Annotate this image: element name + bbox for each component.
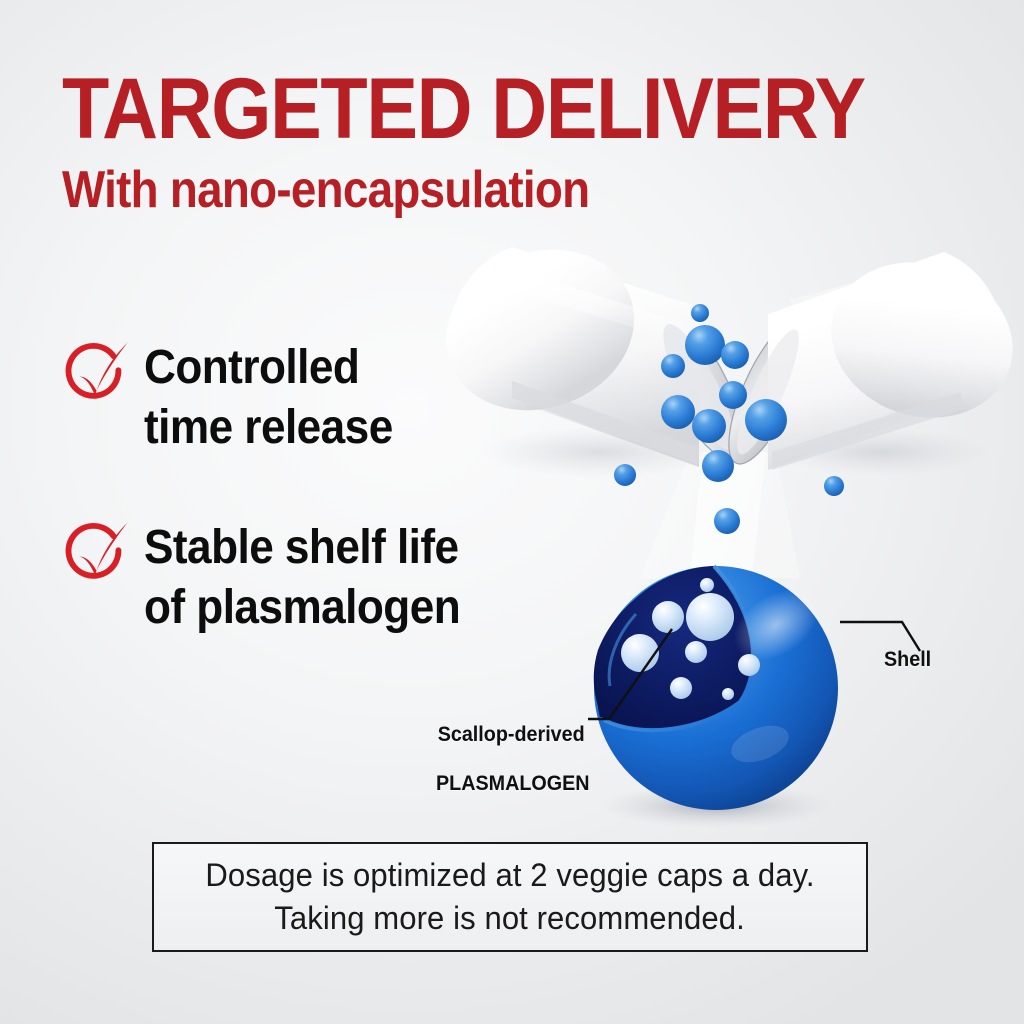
- leader-line-plasmalogen: [588, 629, 672, 719]
- capsule-right-shadow: [770, 428, 990, 476]
- callout-plasmalogen-line2: PLASMALOGEN: [436, 772, 586, 797]
- page-subtitle: With nano-encapsulation: [62, 164, 836, 216]
- sphere-core-cutaway: [596, 566, 721, 717]
- capsule-left-half: [423, 224, 760, 471]
- nano-particle: [614, 464, 636, 486]
- page-title: TARGETED DELIVERY: [62, 72, 854, 148]
- plasmalogen-bubble: [686, 593, 734, 641]
- nano-particle: [685, 325, 725, 365]
- plasmalogen-bubble: [738, 654, 760, 676]
- nano-particle: [702, 450, 734, 482]
- nano-particle: [692, 409, 726, 443]
- nano-particle: [661, 354, 685, 378]
- benefit-item-stable-shelf-life: Stable shelf life of plasmalogen: [56, 512, 488, 639]
- benefit-label: Controlled time release: [144, 332, 393, 459]
- benefit-label: Stable shelf life of plasmalogen: [144, 512, 460, 639]
- dosage-note-line1: Dosage is optimized at 2 veggie caps a d…: [205, 854, 814, 897]
- release-funnel-wide: [640, 452, 800, 578]
- plasmalogen-bubbles: [621, 578, 760, 700]
- plasmalogen-bubble: [652, 601, 684, 633]
- callout-plasmalogen-line1: Scallop-derived: [436, 723, 586, 748]
- sphere-cut-edge-inner: [609, 614, 636, 686]
- plasmalogen-bubble: [700, 578, 714, 592]
- sphere-shadow: [598, 784, 834, 828]
- dosage-note-box: Dosage is optimized at 2 veggie caps a d…: [152, 842, 868, 952]
- sphere-cut-edge: [604, 566, 753, 730]
- sphere-gloss: [721, 575, 831, 675]
- headline-block: TARGETED DELIVERY With nano-encapsulatio…: [62, 72, 942, 216]
- callout-leader-lines: [588, 622, 920, 719]
- nano-particle: [745, 399, 787, 441]
- capsule-left-shadow: [480, 426, 720, 478]
- plasmalogen-bubble: [670, 677, 692, 699]
- nano-particle: [691, 304, 709, 322]
- plasmalogen-bubble: [621, 634, 659, 672]
- leader-line-shell: [840, 622, 920, 651]
- capsule-right-half: [713, 239, 1024, 473]
- nano-particle: [719, 381, 747, 409]
- infographic-canvas: TARGETED DELIVERY With nano-encapsulatio…: [0, 0, 1024, 1024]
- nano-encapsulation-sphere: [594, 566, 838, 810]
- sphere-shell: [594, 566, 838, 810]
- plasmalogen-bubble: [685, 641, 707, 663]
- release-funnel-cone: [690, 452, 766, 575]
- nano-particle: [721, 341, 749, 369]
- sphere-gloss-small: [726, 719, 793, 770]
- dosage-note-line2: Taking more is not recommended.: [275, 897, 746, 940]
- nano-particle: [714, 508, 740, 534]
- red-check-circle-icon: [56, 336, 134, 414]
- nano-particles: [614, 304, 844, 534]
- nano-particle: [661, 395, 695, 429]
- nano-particle: [824, 476, 844, 496]
- sphere-core-fill: [596, 566, 716, 717]
- callout-plasmalogen: Scallop-derived PLASMALOGEN: [436, 698, 586, 822]
- plasmalogen-bubble: [722, 688, 734, 700]
- benefit-item-controlled-time-release: Controlled time release: [56, 332, 414, 459]
- sphere-core-region: [594, 566, 752, 729]
- red-check-circle-icon: [56, 516, 134, 594]
- callout-shell: Shell: [884, 648, 931, 673]
